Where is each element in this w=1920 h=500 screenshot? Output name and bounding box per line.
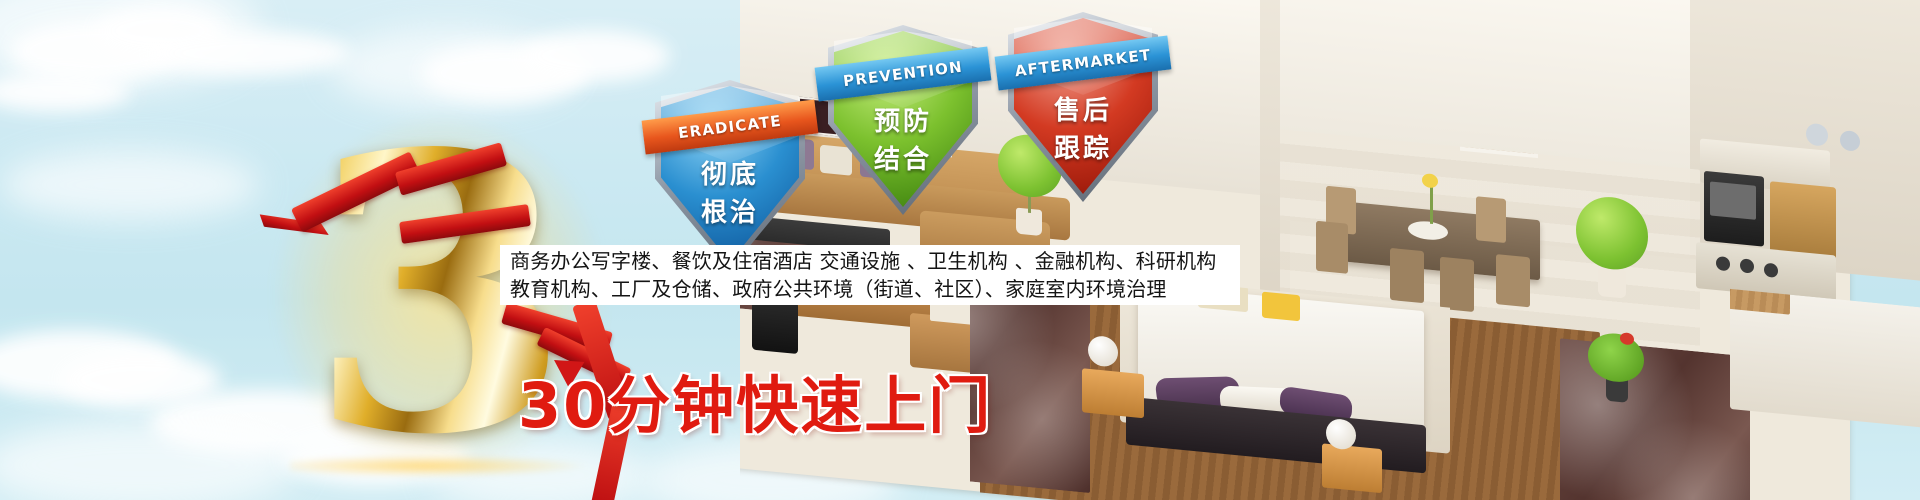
service-scope-panel: 商务办公写字楼、餐饮及住宿酒店 交通设施 、卫生机构 、金融机构、科研机构 教育… <box>500 245 1240 305</box>
nightstand <box>1082 368 1144 418</box>
shield-prevention: PREVENTION 预防 结合 <box>828 25 978 215</box>
shield-eradicate: ERADICATE 彻底 根治 <box>655 80 805 270</box>
dining-chair <box>1440 257 1474 312</box>
pot <box>1840 130 1860 152</box>
shield-banner-text: ERADICATE <box>677 112 783 143</box>
cloud <box>0 150 260 220</box>
plant-pot <box>1598 268 1626 299</box>
headline-text: 30分钟快速上门 <box>518 355 992 445</box>
shield-label-bottom: 根治 <box>655 192 805 229</box>
shield-label-top: 彻底 <box>655 154 805 191</box>
shield-label-top: 售后 <box>1008 90 1158 127</box>
flower-stem <box>1430 182 1433 224</box>
dining-chair <box>1496 254 1530 307</box>
nightstand <box>1322 443 1382 493</box>
shield-label-bottom: 结合 <box>828 139 978 176</box>
shield-banner-text: PREVENTION <box>842 58 964 91</box>
burner <box>1716 256 1730 271</box>
promo-banner: 3 ERADICATE 彻底 根治 PREVENTION 预防 结合 <box>0 0 1920 500</box>
office-chair <box>752 298 798 354</box>
folded-blanket <box>1262 292 1300 322</box>
shield-aftermarket: AFTERMARKET 售后 跟踪 <box>1008 12 1158 202</box>
cloud <box>150 30 350 76</box>
dining-chair <box>1390 248 1424 303</box>
cloud <box>0 72 130 112</box>
gold-sparkle <box>290 455 590 477</box>
shield-label-bottom: 跟踪 <box>1008 128 1158 165</box>
pot <box>1806 123 1828 147</box>
dining-chair <box>1476 196 1506 243</box>
oven-window <box>1710 181 1756 219</box>
burner <box>1740 258 1754 273</box>
bathroom <box>1730 289 1920 500</box>
burner <box>1764 263 1778 278</box>
dining-chair <box>1316 221 1348 274</box>
scope-line-1: 商务办公写字楼、餐饮及住宿酒店 交通设施 、卫生机构 、金融机构、科研机构 <box>510 247 1232 275</box>
shield-label-top: 预防 <box>828 101 978 138</box>
scope-line-2: 教育机构、工厂及仓储、政府公共环境（街道、社区）、家庭室内环境治理 <box>510 275 1232 303</box>
